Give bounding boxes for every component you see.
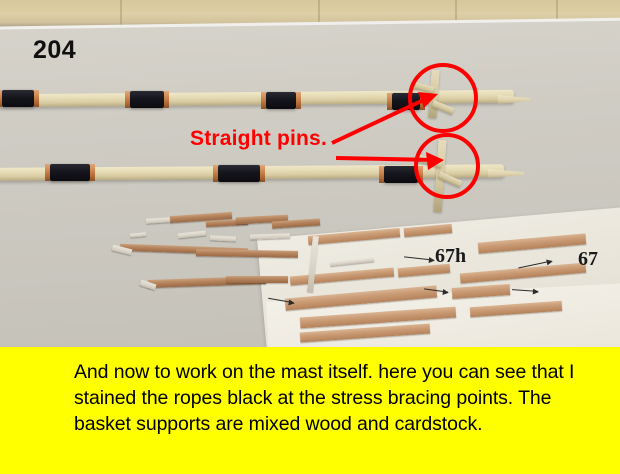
lower-pin-arrow-line	[336, 158, 436, 160]
build-photo: 67h 67	[0, 0, 620, 347]
lower-pin-circle-icon	[416, 135, 478, 197]
upper-pin-arrow-line	[332, 97, 430, 143]
caption-bar: And now to work on the mast itself. here…	[0, 347, 620, 474]
upper-pin-circle-icon	[410, 65, 476, 131]
photo-number-label: 204	[33, 36, 76, 65]
image-root: 67h 67	[0, 0, 620, 474]
upper-pin-arrow-head	[418, 92, 438, 108]
annotation-overlay	[0, 0, 620, 347]
lower-pin-arrow-head	[426, 152, 444, 170]
straight-pins-annotation: Straight pins.	[190, 127, 327, 151]
caption-text: And now to work on the mast itself. here…	[0, 347, 620, 437]
